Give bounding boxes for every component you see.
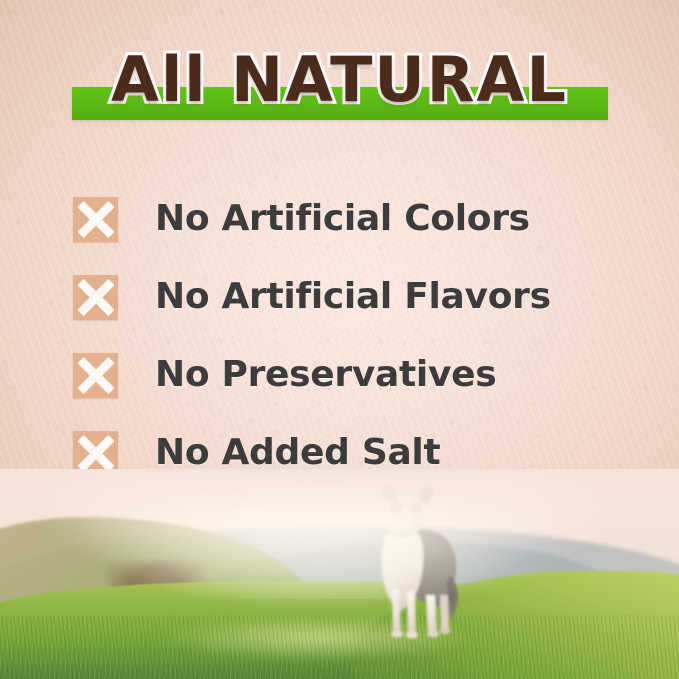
sun-haze	[0, 469, 679, 599]
all-natural-poster: All NATURAL No Artificial Colors No Arti…	[0, 0, 679, 679]
x-mark-icon	[73, 353, 118, 398]
x-mark-icon	[73, 197, 118, 242]
claim-label-preservatives: No Preservatives	[155, 356, 496, 394]
grass-texture	[0, 615, 679, 679]
claims-list: No Artificial Colors No Artificial Flavo…	[73, 180, 613, 492]
list-item: No Artificial Flavors	[73, 258, 613, 336]
list-item: No Preservatives	[73, 336, 613, 414]
list-item: No Artificial Colors	[73, 180, 613, 258]
x-mark-icon	[73, 275, 118, 320]
claim-label-flavors: No Artificial Flavors	[155, 278, 551, 316]
claim-label-salt: No Added Salt	[155, 434, 440, 472]
page-title: All NATURAL	[0, 49, 679, 111]
landscape-photo	[0, 469, 679, 679]
claim-label-colors: No Artificial Colors	[155, 200, 530, 238]
